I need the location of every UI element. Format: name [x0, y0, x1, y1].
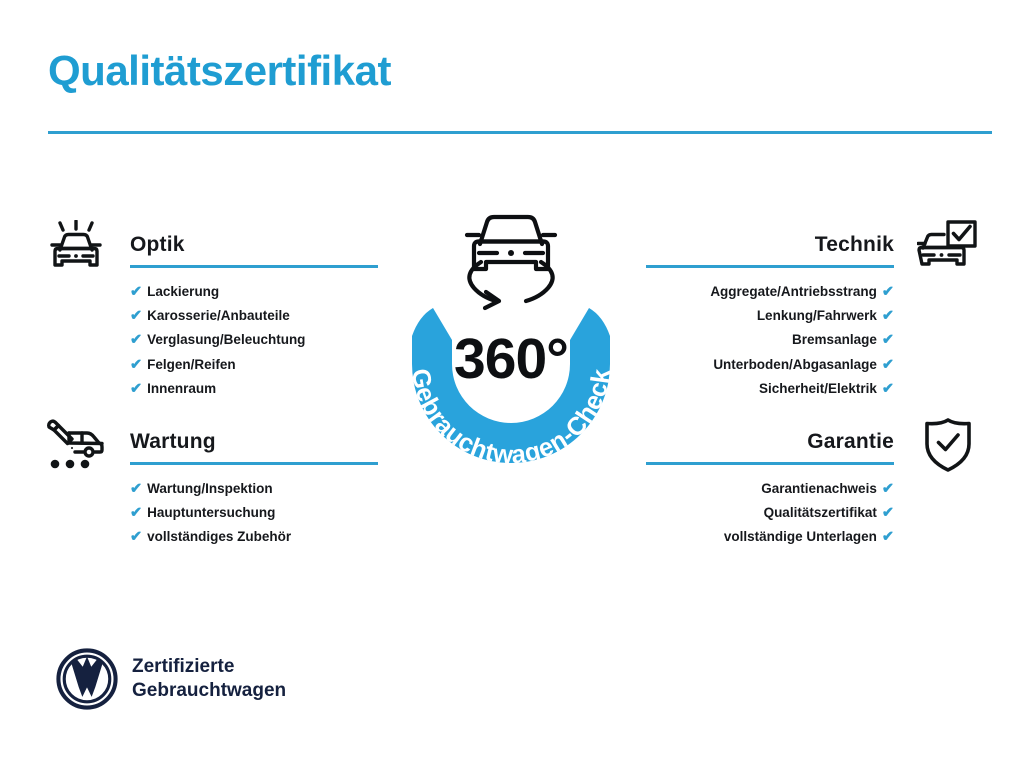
check-icon: ✔: [882, 381, 894, 397]
list-item-label: Karosserie/Anbauteile: [147, 308, 290, 323]
section-divider: [130, 462, 378, 465]
list-item: Bremsanlage✔: [644, 328, 894, 352]
section-optik: Optik ✔Lackierung ✔Karosserie/Anbauteile…: [30, 226, 380, 401]
checklist-wartung: ✔Wartung/Inspektion ✔Hauptuntersuchung ✔…: [30, 477, 380, 550]
check-icon: ✔: [882, 332, 894, 348]
list-item-label: Garantienachweis: [761, 481, 877, 496]
car-checkbox-icon: [910, 218, 986, 278]
car-shine-icon: [38, 218, 114, 278]
section-header: Garantie: [644, 423, 994, 465]
list-item-label: Hauptuntersuchung: [147, 505, 275, 520]
check-icon: ✔: [130, 481, 142, 497]
checklist-garantie: Garantienachweis✔ Qualitätszertifikat✔ v…: [644, 477, 994, 550]
check-icon: ✔: [882, 529, 894, 545]
check-icon: ✔: [130, 357, 142, 373]
list-item-label: Felgen/Reifen: [147, 357, 236, 372]
list-item-label: Sicherheit/Elektrik: [759, 381, 877, 396]
shield-check-icon: [910, 415, 986, 475]
check-icon: ✔: [130, 381, 142, 397]
list-item: Lenkung/Fahrwerk✔: [644, 304, 894, 328]
list-item-label: Aggregate/Antriebsstrang: [710, 284, 877, 299]
360-gebrauchtwagen-check-badge: Gebrauchtwagen-Check 360°: [378, 196, 644, 482]
check-icon: ✔: [130, 308, 142, 324]
section-header: Wartung: [30, 423, 380, 465]
car-service-tool-icon: [38, 415, 114, 475]
list-item-label: Bremsanlage: [792, 332, 877, 347]
list-item: vollständige Unterlagen✔: [644, 525, 894, 549]
list-item: ✔Lackierung: [130, 280, 380, 304]
page-title: Qualitätszertifikat: [48, 48, 391, 94]
list-item-label: Qualitätszertifikat: [764, 505, 877, 520]
footer-logo-text: Zertifizierte Gebrauchtwagen: [132, 655, 286, 703]
badge-graphic: Gebrauchtwagen-Check 360°: [378, 196, 644, 482]
section-title: Technik: [815, 233, 894, 257]
list-item-label: vollständige Unterlagen: [724, 529, 877, 544]
section-header: Optik: [30, 226, 380, 268]
section-wartung: Wartung ✔Wartung/Inspektion ✔Hauptunters…: [30, 423, 380, 550]
list-item: Aggregate/Antriebsstrang✔: [644, 280, 894, 304]
list-item: ✔Innenraum: [130, 377, 380, 401]
section-divider: [646, 462, 894, 465]
checklist-technik: Aggregate/Antriebsstrang✔ Lenkung/Fahrwe…: [644, 280, 994, 401]
section-header: Technik: [644, 226, 994, 268]
section-title: Garantie: [807, 430, 894, 454]
check-icon: ✔: [882, 505, 894, 521]
vw-logo-icon: [56, 648, 118, 710]
list-item-label: Verglasung/Beleuchtung: [147, 332, 305, 347]
check-icon: ✔: [882, 284, 894, 300]
list-item-label: Lenkung/Fahrwerk: [757, 308, 877, 323]
section-title: Wartung: [130, 430, 216, 454]
list-item: Qualitätszertifikat✔: [644, 501, 894, 525]
list-item-label: Wartung/Inspektion: [147, 481, 273, 496]
section-title: Optik: [130, 233, 185, 257]
check-icon: ✔: [130, 505, 142, 521]
list-item: ✔Hauptuntersuchung: [130, 501, 380, 525]
checklist-optik: ✔Lackierung ✔Karosserie/Anbauteile ✔Verg…: [30, 280, 380, 401]
check-icon: ✔: [130, 332, 142, 348]
list-item: ✔Karosserie/Anbauteile: [130, 304, 380, 328]
list-item-label: Lackierung: [147, 284, 219, 299]
title-divider: [48, 131, 992, 134]
car-rotate-icon: [467, 217, 555, 308]
list-item-label: Unterboden/Abgasanlage: [713, 357, 877, 372]
check-icon: ✔: [130, 284, 142, 300]
section-garantie: Garantie Garantienachweis✔ Qualitätszert…: [644, 423, 994, 550]
list-item: Unterboden/Abgasanlage✔: [644, 353, 894, 377]
list-item: Garantienachweis✔: [644, 477, 894, 501]
list-item-label: Innenraum: [147, 381, 216, 396]
list-item: ✔Felgen/Reifen: [130, 353, 380, 377]
badge-center-label: 360°: [454, 327, 568, 391]
list-item: ✔vollständiges Zubehör: [130, 525, 380, 549]
list-item: ✔Verglasung/Beleuchtung: [130, 328, 380, 352]
list-item-label: vollständiges Zubehör: [147, 529, 291, 544]
section-divider: [130, 265, 378, 268]
check-icon: ✔: [882, 308, 894, 324]
section-technik: Technik Aggregate/Antriebsstrang✔ Lenkun…: [644, 226, 994, 401]
qualitaetszertifikat-page: { "header": { "title": "Qualitätszertifi…: [0, 0, 1024, 768]
check-icon: ✔: [882, 481, 894, 497]
section-divider: [646, 265, 894, 268]
list-item: Sicherheit/Elektrik✔: [644, 377, 894, 401]
list-item: ✔Wartung/Inspektion: [130, 477, 380, 501]
check-icon: ✔: [130, 529, 142, 545]
check-icon: ✔: [882, 357, 894, 373]
vw-certified-logo: Zertifizierte Gebrauchtwagen: [56, 648, 286, 710]
